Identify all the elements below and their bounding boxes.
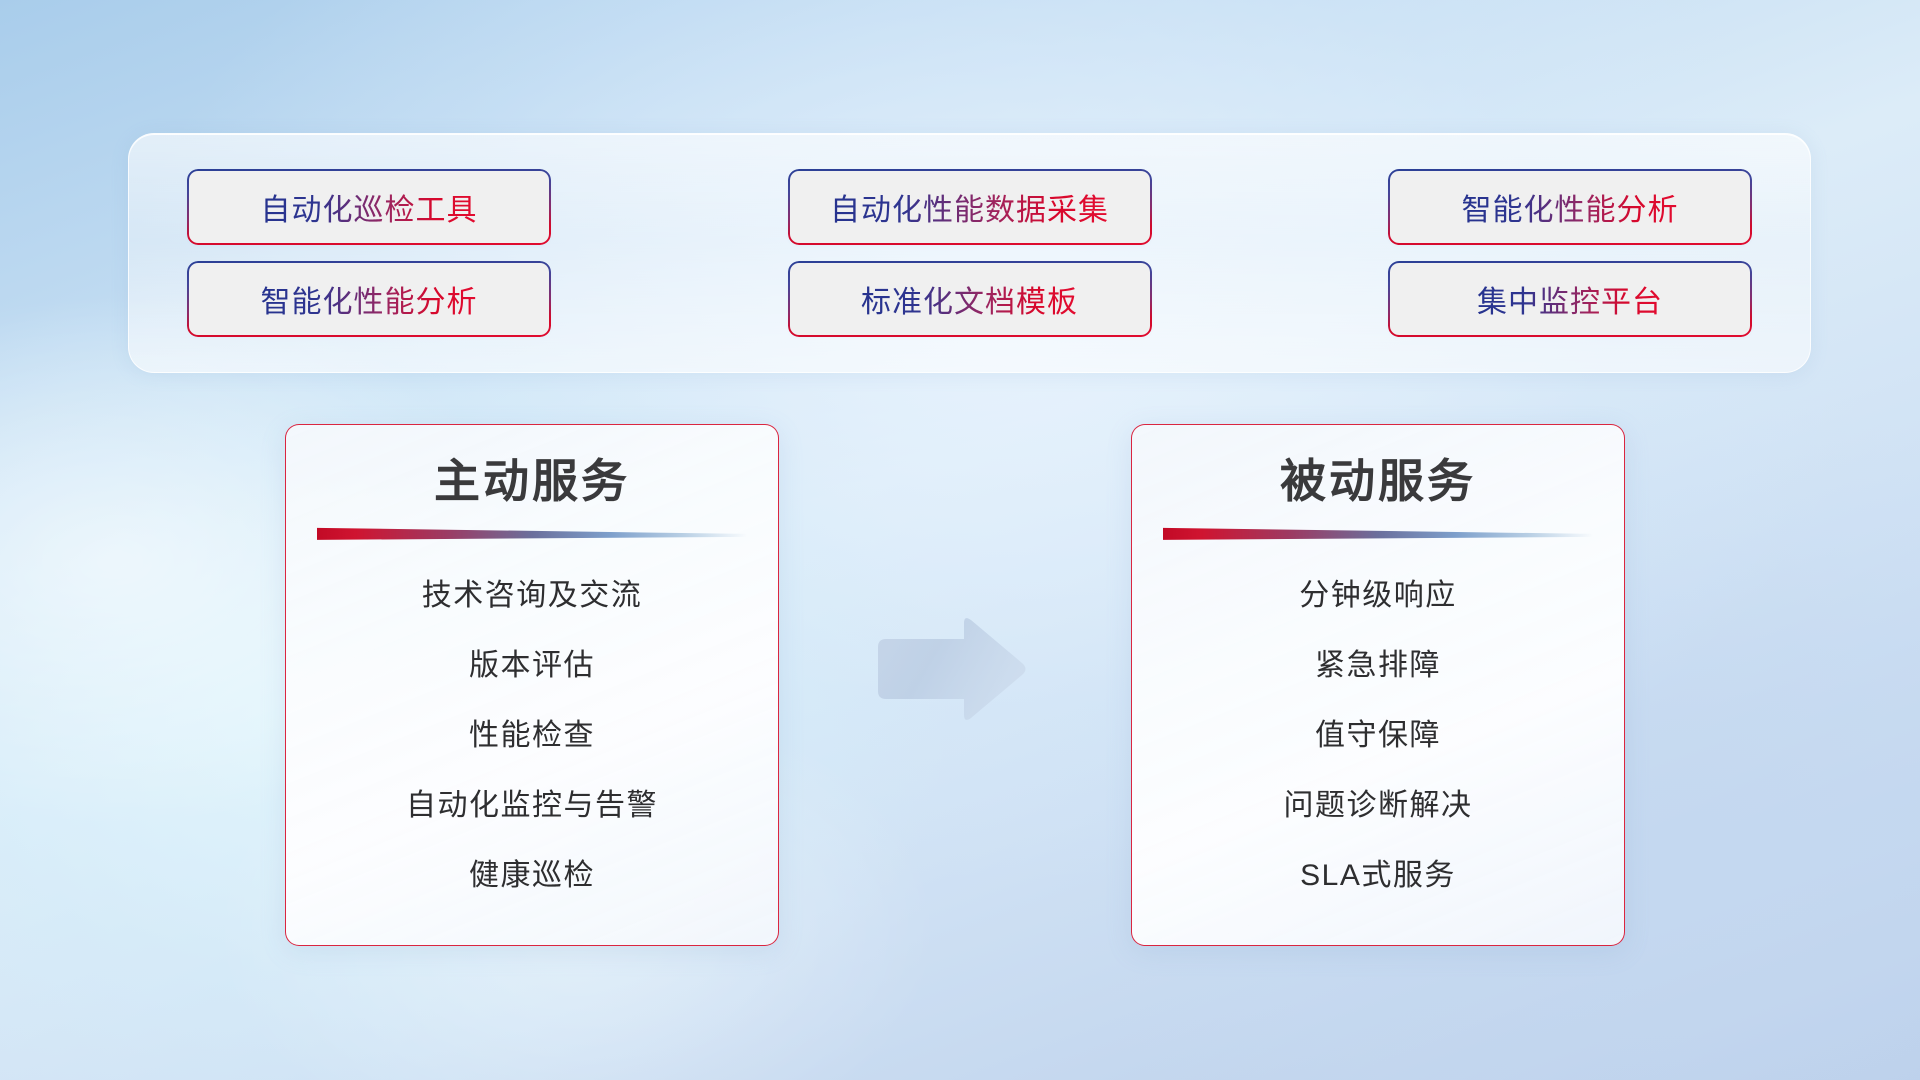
capability-pill-centralized-monitoring-platform[interactable]: 集中监控平台: [1390, 263, 1750, 335]
capability-pill-label: 自动化巡检工具: [261, 185, 478, 229]
arrow-right-icon: [872, 613, 1030, 725]
list-item: 分钟级响应: [1299, 570, 1457, 614]
service-card-passive: 被动服务 分钟级响应 紧急排障 值守保障 问题诊断解决 SLA式服务: [1131, 424, 1625, 946]
capability-row-1: 自动化巡检工具 自动化性能数据采集 智能化性能分析: [189, 171, 1750, 243]
list-item: 版本评估: [469, 640, 595, 684]
gradient-divider-bar: [1163, 526, 1593, 540]
capability-pill-label: 自动化性能数据采集: [830, 185, 1109, 229]
capability-pill-intelligent-performance-analysis[interactable]: 智能化性能分析: [189, 263, 549, 335]
list-item: 紧急排障: [1315, 640, 1441, 684]
list-item: 自动化监控与告警: [406, 780, 658, 824]
card-divider: [317, 526, 747, 540]
service-item-list-active: 技术咨询及交流 版本评估 性能检查 自动化监控与告警 健康巡检: [286, 540, 778, 894]
list-item: 技术咨询及交流: [422, 570, 643, 614]
capability-pill-standardized-document-template[interactable]: 标准化文档模板: [790, 263, 1150, 335]
capability-panel: 自动化巡检工具 自动化性能数据采集 智能化性能分析 智能化性能分析 标准化文档模…: [128, 133, 1811, 373]
capability-pill-intelligent-performance-analysis-top[interactable]: 智能化性能分析: [1390, 171, 1750, 243]
capability-row-2: 智能化性能分析 标准化文档模板 集中监控平台: [189, 263, 1750, 335]
list-item: 性能检查: [469, 710, 595, 754]
card-divider: [1163, 526, 1593, 540]
list-item: 问题诊断解决: [1284, 780, 1473, 824]
gradient-divider-bar: [317, 526, 747, 540]
list-item: 健康巡检: [469, 850, 595, 894]
service-item-list-passive: 分钟级响应 紧急排障 值守保障 问题诊断解决 SLA式服务: [1132, 540, 1624, 894]
card-title-active-service: 主动服务: [434, 455, 630, 508]
service-card-active: 主动服务 技术咨询及交流 版本评估 性能检查 自动化监控与告警 健康巡检: [285, 424, 779, 946]
capability-pill-label: 智能化性能分析: [261, 277, 478, 321]
capability-pill-automated-inspection-tool[interactable]: 自动化巡检工具: [189, 171, 549, 243]
card-title-passive-service: 被动服务: [1280, 455, 1476, 508]
capability-pill-label: 标准化文档模板: [861, 277, 1078, 321]
capability-pill-label: 集中监控平台: [1477, 277, 1663, 321]
list-item: 值守保障: [1315, 710, 1441, 754]
capability-pill-label: 智能化性能分析: [1462, 185, 1679, 229]
capability-pill-automated-performance-data-collection[interactable]: 自动化性能数据采集: [790, 171, 1150, 243]
list-item: SLA式服务: [1300, 850, 1456, 894]
